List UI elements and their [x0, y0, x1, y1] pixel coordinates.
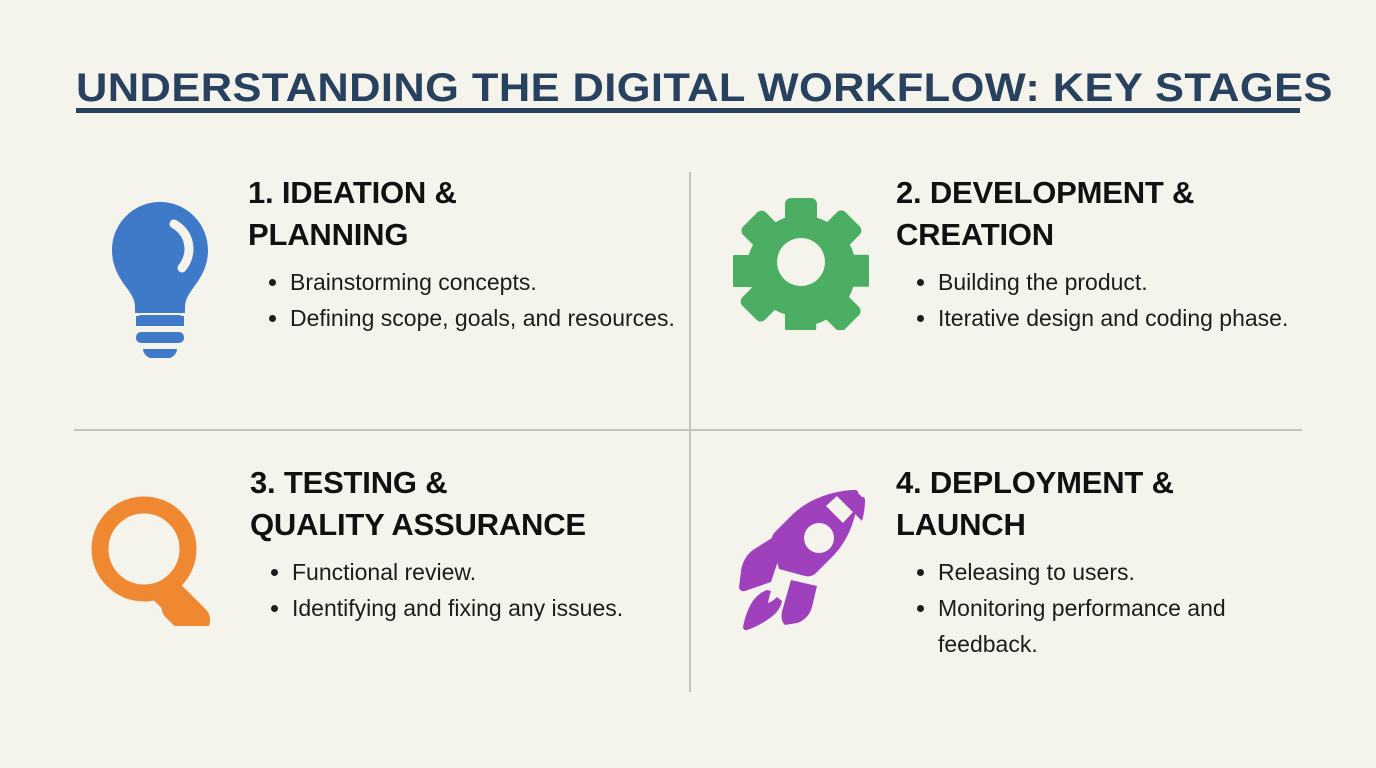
- list-item: Iterative design and coding phase.: [938, 300, 1314, 336]
- title-block: UNDERSTANDING THE DIGITAL WORKFLOW: KEY …: [76, 66, 1304, 110]
- magnifying-glass-icon: [84, 492, 226, 626]
- stage-bullet-list: Building the product. Iterative design a…: [896, 264, 1314, 336]
- list-item: Releasing to users.: [938, 554, 1314, 590]
- stage-heading-line-2: CREATION: [896, 217, 1054, 252]
- stage-bullet-list: Releasing to users. Monitoring performan…: [896, 554, 1314, 662]
- stage-heading: 4. DEPLOYMENT & LAUNCH: [896, 462, 1314, 546]
- stage-bullet-list: Brainstorming concepts. Defining scope, …: [248, 264, 680, 336]
- title-underline: [76, 108, 1300, 113]
- lightbulb-icon: [108, 200, 212, 358]
- list-item: Identifying and fixing any issues.: [292, 590, 680, 626]
- horizontal-divider: [74, 429, 1302, 431]
- stage-icon-cell: [72, 172, 248, 358]
- gear-icon: [733, 194, 869, 330]
- stage-card-ideation-planning: 1. IDEATION & PLANNING Brainstorming con…: [72, 172, 680, 422]
- stage-text-cell: 1. IDEATION & PLANNING Brainstorming con…: [248, 172, 680, 336]
- rocket-icon: [731, 484, 871, 630]
- stage-heading-line-2: PLANNING: [248, 217, 408, 252]
- stage-bullet-list: Functional review. Identifying and fixin…: [250, 554, 680, 626]
- stage-heading-line-1: 3. TESTING &: [250, 465, 447, 500]
- list-item: Brainstorming concepts.: [290, 264, 680, 300]
- stage-card-development-creation: 2. DEVELOPMENT & CREATION Building the p…: [706, 172, 1314, 422]
- stage-icon-cell: [706, 172, 896, 330]
- vertical-divider: [689, 172, 691, 692]
- stage-heading: 3. TESTING & QUALITY ASSURANCE: [250, 462, 680, 546]
- stage-heading: 1. IDEATION & PLANNING: [248, 172, 680, 256]
- infographic-canvas: UNDERSTANDING THE DIGITAL WORKFLOW: KEY …: [0, 0, 1376, 768]
- stage-heading-line-2: QUALITY ASSURANCE: [250, 507, 586, 542]
- list-item: Functional review.: [292, 554, 680, 590]
- stage-card-testing-qa: 3. TESTING & QUALITY ASSURANCE Functiona…: [60, 462, 680, 712]
- stage-icon-cell: [60, 462, 250, 626]
- stage-text-cell: 2. DEVELOPMENT & CREATION Building the p…: [896, 172, 1314, 336]
- stage-card-deployment-launch: 4. DEPLOYMENT & LAUNCH Releasing to user…: [706, 462, 1314, 712]
- stage-heading-line-1: 2. DEVELOPMENT &: [896, 175, 1194, 210]
- stage-text-cell: 4. DEPLOYMENT & LAUNCH Releasing to user…: [896, 462, 1314, 662]
- stage-text-cell: 3. TESTING & QUALITY ASSURANCE Functiona…: [250, 462, 680, 626]
- stage-heading: 2. DEVELOPMENT & CREATION: [896, 172, 1314, 256]
- stage-heading-line-1: 4. DEPLOYMENT &: [896, 465, 1174, 500]
- page-title: UNDERSTANDING THE DIGITAL WORKFLOW: KEY …: [76, 66, 1376, 110]
- list-item: Building the product.: [938, 264, 1314, 300]
- list-item: Defining scope, goals, and resources.: [290, 300, 680, 336]
- stage-heading-line-1: 1. IDEATION &: [248, 175, 457, 210]
- stage-heading-line-2: LAUNCH: [896, 507, 1026, 542]
- list-item: Monitoring performance and feedback.: [938, 590, 1314, 662]
- stage-icon-cell: [706, 462, 896, 630]
